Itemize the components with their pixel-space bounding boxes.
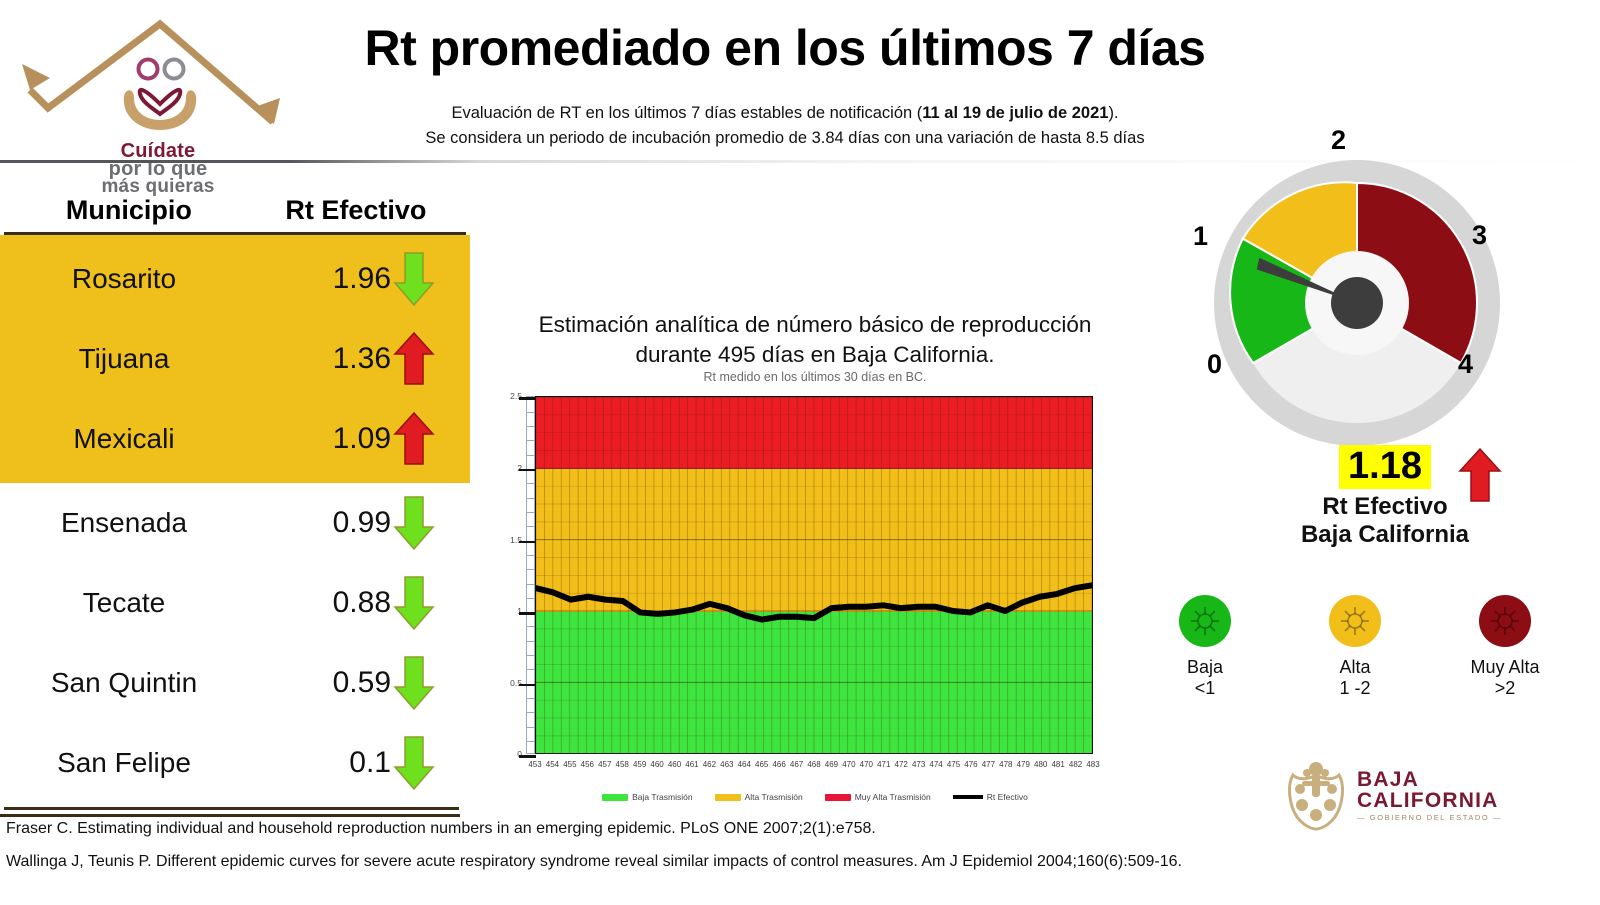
trend-arrow-up-icon (393, 410, 435, 468)
x-tick-label: 457 (598, 760, 611, 769)
x-tick-label: 483 (1086, 760, 1099, 769)
y-tick-label: 1 (494, 606, 522, 616)
trend-arrow-down-icon (393, 574, 435, 632)
virus-icon (1179, 595, 1231, 647)
municipios-table: Municipio Rt Efectivo Rosarito1.96Tijuan… (0, 195, 470, 810)
legend-line-marker (953, 795, 983, 799)
legend-item: Muy Alta Trasmisión (825, 792, 931, 802)
x-tick-label: 454 (546, 760, 559, 769)
rt-value-highlight: 1.18 (1339, 445, 1431, 489)
x-tick-label: 459 (633, 760, 646, 769)
virus-icon (1329, 595, 1381, 647)
x-tick-label: 473 (912, 760, 925, 769)
y-tick-label: 1.5 (494, 535, 522, 545)
y-axis-rail (526, 396, 535, 754)
bc-logo-line-2: CALIFORNIA (1357, 790, 1502, 811)
rt-summary-label-2: Baja California (1240, 521, 1530, 549)
x-tick-label: 478 (999, 760, 1012, 769)
cell-trend (393, 654, 453, 712)
chart-title-line-1: Estimación analítica de número básico de… (502, 310, 1128, 340)
table-body: Rosarito1.96Tijuana1.36Mexicali1.09Ensen… (0, 235, 470, 803)
trend-arrow-down-icon (393, 250, 435, 308)
x-tick-label: 465 (755, 760, 768, 769)
trend-arrow-down-icon (393, 654, 435, 712)
cell-rt-value: 0.1 (248, 746, 393, 780)
gauge-dial (1207, 153, 1507, 453)
legend-item: Baja Trasmisión (602, 792, 692, 802)
cell-rt-value: 1.09 (248, 422, 393, 456)
table-row[interactable]: Tecate0.88 (0, 563, 470, 643)
legend-item: Rt Efectivo (953, 792, 1028, 802)
subtitle-evaluation: Evaluación de RT en los últimos 7 días e… (290, 104, 1280, 123)
x-tick-label: 476 (964, 760, 977, 769)
y-tick-label: 2.5 (494, 391, 522, 401)
x-tick-label: 467 (790, 760, 803, 769)
key-label: Baja (1140, 657, 1270, 678)
trend-arrow-down-icon (393, 734, 435, 792)
chart-plot-area: 00.511.522.5 453454455456457458459460460… (490, 390, 1140, 780)
cell-rt-value: 1.36 (248, 342, 393, 376)
chart-title-line-2: durante 495 días en Baja California. (502, 340, 1128, 370)
table-row[interactable]: San Quintin0.59 (0, 643, 470, 723)
x-tick-label: 464 (738, 760, 751, 769)
x-tick-label: 460 (668, 760, 681, 769)
key-color-circle (1329, 595, 1381, 647)
table-row[interactable]: Tijuana1.36 (0, 319, 470, 399)
footer-divider (0, 814, 460, 817)
x-tick-label: 482 (1069, 760, 1082, 769)
legend-swatch (715, 794, 741, 801)
subtitle-post: ). (1108, 104, 1118, 122)
bc-logo-subtitle: — GOBIERNO DEL ESTADO — (1357, 814, 1502, 822)
cell-municipio: Tecate (0, 587, 248, 619)
gauge-tick-4: 4 (1458, 349, 1473, 380)
cell-municipio: San Felipe (0, 747, 248, 779)
legend-label: Muy Alta Trasmisión (855, 792, 931, 802)
gauge-tick-2: 2 (1331, 125, 1346, 156)
x-tick-label: 470 (860, 760, 873, 769)
key-label: Alta (1290, 657, 1420, 678)
chart-legend: Baja TrasmisiónAlta TrasmisiónMuy Alta T… (490, 792, 1140, 802)
bc-logo-wordmark: BAJA CALIFORNIA — GOBIERNO DEL ESTADO — (1357, 769, 1502, 822)
x-tick-label: 477 (982, 760, 995, 769)
x-tick-label: 480 (1034, 760, 1047, 769)
key-color-circle (1479, 595, 1531, 647)
x-tick-label: 468 (807, 760, 820, 769)
state-crest-icon (1285, 759, 1347, 831)
key-item: Alta1 -2 (1290, 595, 1420, 699)
cell-trend (393, 330, 453, 388)
cell-municipio: Ensenada (0, 507, 248, 539)
x-tick-label: 472 (895, 760, 908, 769)
cell-municipio: Rosarito (0, 263, 248, 295)
cell-trend (393, 410, 453, 468)
rt-efectivo-summary: 1.18 Rt Efectivo Baja California (1240, 445, 1530, 549)
rt-trend-arrow-up-icon (1458, 447, 1502, 508)
cell-trend (393, 734, 453, 792)
key-range: <1 (1140, 678, 1270, 699)
rt-gauge: 0 1 2 3 4 (1175, 125, 1530, 425)
x-tick-label: 455 (563, 760, 576, 769)
cell-municipio: Tijuana (0, 343, 248, 375)
table-row[interactable]: San Felipe0.1 (0, 723, 470, 803)
column-header-municipio: Municipio (8, 195, 250, 226)
cell-municipio: Mexicali (0, 423, 248, 455)
hands-heart-icon (116, 56, 204, 136)
bc-logo-line-1: BAJA (1357, 769, 1502, 790)
table-header-row: Municipio Rt Efectivo (0, 195, 470, 230)
x-tick-label: 460 (650, 760, 663, 769)
gauge-tick-1: 1 (1193, 221, 1208, 252)
cell-rt-value: 0.99 (248, 506, 393, 540)
cell-trend (393, 494, 453, 552)
key-range: >2 (1440, 678, 1570, 699)
subtitle-date-range: 11 al 19 de julio de 2021 (922, 104, 1108, 122)
cuidate-logo: Cuídate por lo que más quieras (8, 8, 308, 183)
x-tick-label: 479 (1017, 760, 1030, 769)
x-tick-label: 453 (528, 760, 541, 769)
legend-label: Alta Trasmisión (745, 792, 803, 802)
key-color-circle (1179, 595, 1231, 647)
gauge-tick-3: 3 (1472, 220, 1487, 251)
x-tick-label: 463 (720, 760, 733, 769)
y-tick-label: 0 (494, 749, 522, 759)
chart-canvas (535, 396, 1093, 754)
subtitle-incubation: Se considera un periodo de incubación pr… (290, 129, 1280, 148)
subtitle-pre: Evaluación de RT en los últimos 7 días e… (451, 104, 922, 122)
gauge-tick-0: 0 (1207, 349, 1222, 380)
cell-municipio: San Quintin (0, 667, 248, 699)
legend-label: Baja Trasmisión (632, 792, 692, 802)
legend-item: Alta Trasmisión (715, 792, 803, 802)
x-axis-labels: 4534544554564574584594604604614624634644… (535, 760, 1093, 774)
key-item: Baja<1 (1140, 595, 1270, 699)
legend-swatch (602, 794, 628, 801)
x-tick-label: 481 (1051, 760, 1064, 769)
cell-trend (393, 250, 453, 308)
rt-chart: Estimación analítica de número básico de… (490, 310, 1140, 802)
x-tick-label: 471 (877, 760, 890, 769)
cell-trend (393, 574, 453, 632)
x-tick-label: 475 (947, 760, 960, 769)
highlighted-rows-group: Rosarito1.96Tijuana1.36Mexicali1.09 (0, 235, 470, 483)
x-tick-label: 469 (825, 760, 838, 769)
column-header-rt-efectivo: Rt Efectivo (250, 195, 462, 226)
cell-rt-value: 1.96 (248, 262, 393, 296)
key-range: 1 -2 (1290, 678, 1420, 699)
x-tick-label: 456 (581, 760, 594, 769)
x-tick-label: 474 (929, 760, 942, 769)
reference-2: Wallinga J, Teunis P. Different epidemic… (6, 853, 1182, 871)
y-tick-label: 0.5 (494, 678, 522, 688)
reference-1: Fraser C. Estimating individual and hous… (6, 820, 876, 838)
table-row[interactable]: Mexicali1.09 (0, 399, 470, 479)
transmission-key: Baja<1Alta1 -2Muy Alta>2 (1140, 595, 1570, 699)
legend-label: Rt Efectivo (987, 792, 1028, 802)
virus-icon (1479, 595, 1531, 647)
x-tick-label: 461 (685, 760, 698, 769)
cell-rt-value: 0.88 (248, 586, 393, 620)
x-tick-label: 466 (772, 760, 785, 769)
trend-arrow-up-icon (393, 330, 435, 388)
table-bottom-divider (4, 807, 459, 810)
x-tick-label: 470 (842, 760, 855, 769)
baja-california-logo: BAJA CALIFORNIA — GOBIERNO DEL ESTADO — (1285, 755, 1545, 835)
legend-swatch (825, 794, 851, 801)
trend-arrow-down-icon (393, 494, 435, 552)
key-item: Muy Alta>2 (1440, 595, 1570, 699)
table-row[interactable]: Ensenada0.99 (0, 483, 470, 563)
table-row[interactable]: Rosarito1.96 (0, 239, 470, 319)
chart-subtitle: Rt medido en los últimos 30 días en BC. (490, 370, 1140, 384)
x-tick-label: 458 (616, 760, 629, 769)
x-tick-label: 462 (703, 760, 716, 769)
rt-efectivo-line (536, 397, 1092, 754)
key-label: Muy Alta (1440, 657, 1570, 678)
page-title: Rt promediado en los últimos 7 días (290, 22, 1280, 75)
chart-title: Estimación analítica de número básico de… (490, 310, 1140, 369)
cell-rt-value: 0.59 (248, 666, 393, 700)
y-tick-label: 2 (494, 463, 522, 473)
